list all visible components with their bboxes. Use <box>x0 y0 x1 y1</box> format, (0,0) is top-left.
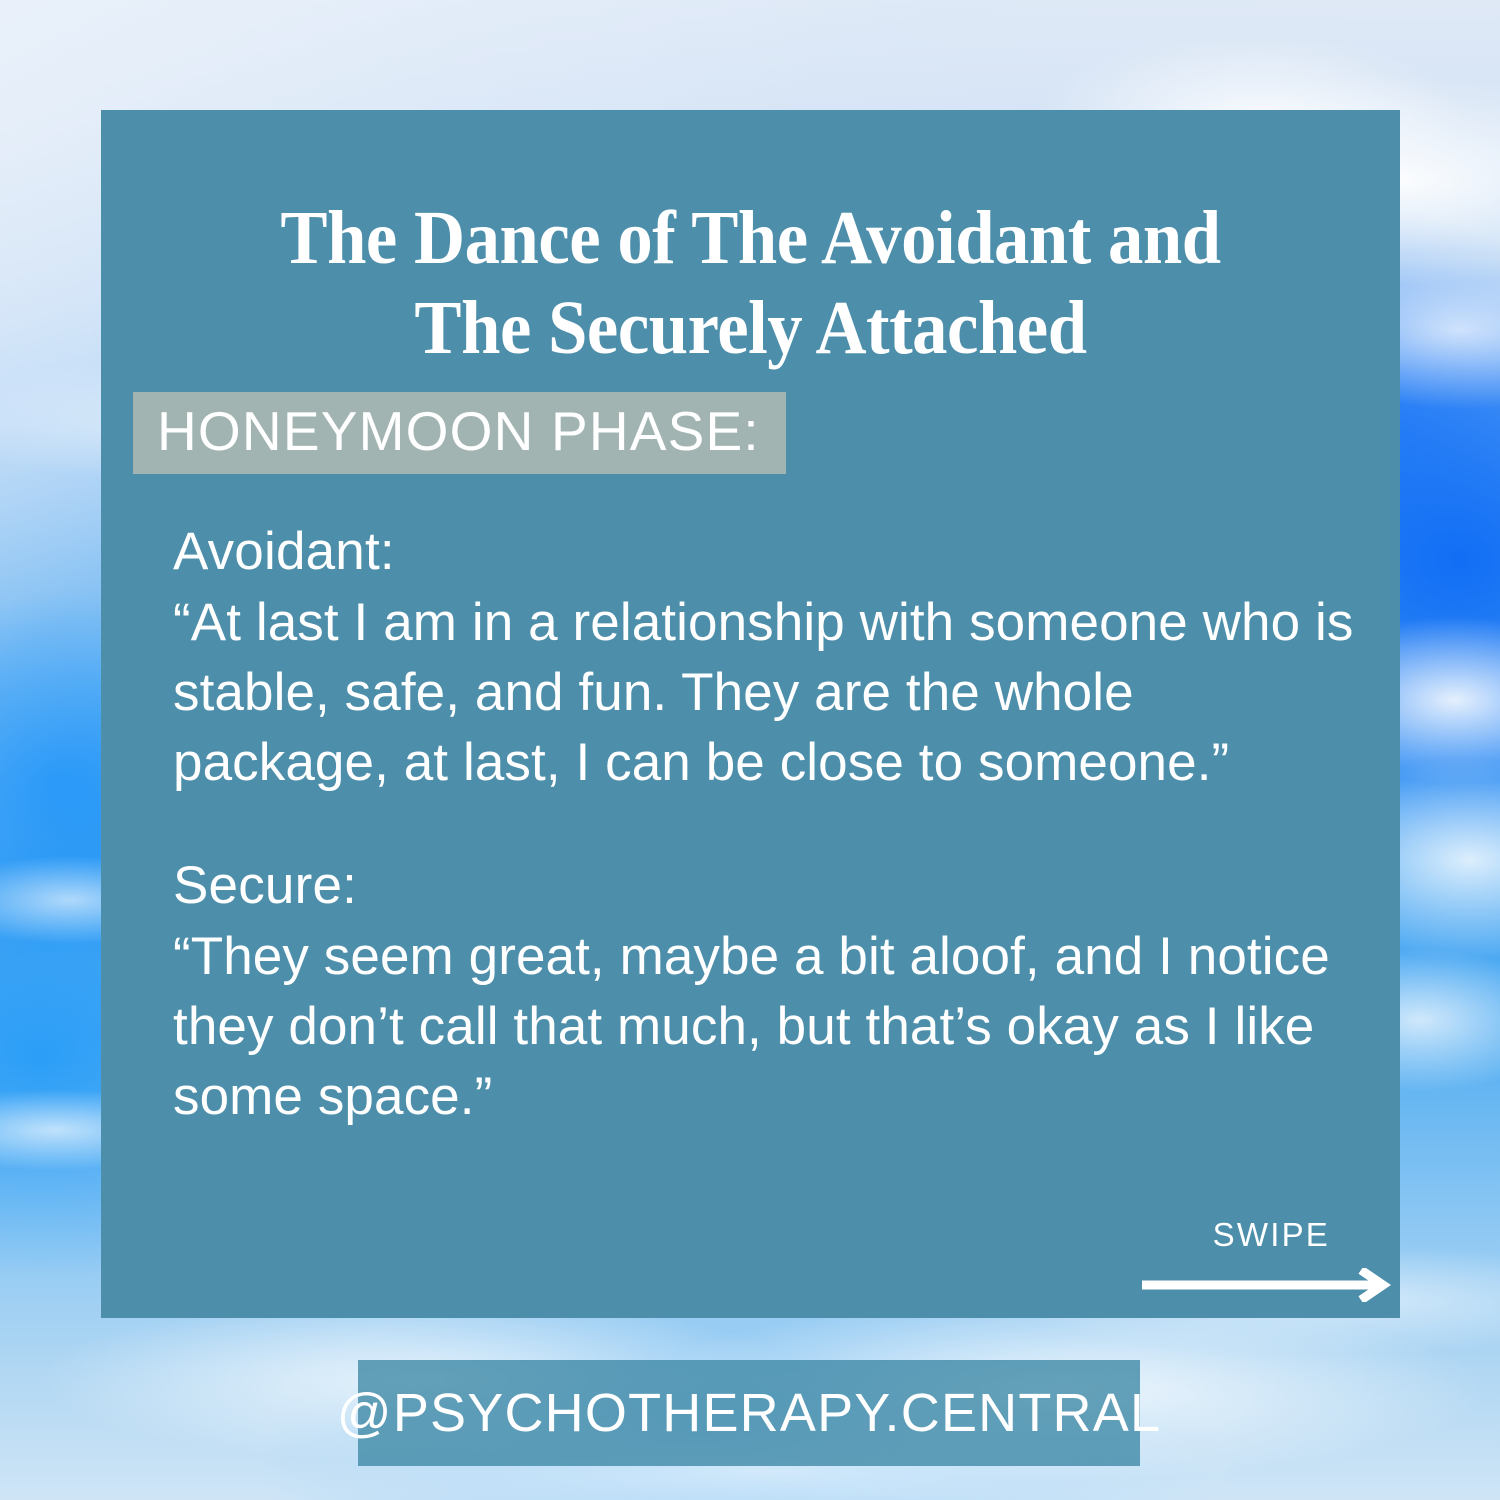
swipe-label: SWIPE <box>1012 1216 1392 1254</box>
page-title: The Dance of The Avoidant and The Secure… <box>146 193 1354 373</box>
swipe-affordance[interactable]: SWIPE <box>1012 1216 1392 1302</box>
quote-secure: “They seem great, maybe a bit aloof, and… <box>173 922 1358 1132</box>
speaker-label-avoidant: Avoidant: <box>173 520 1358 584</box>
arrow-right-icon <box>1142 1268 1392 1302</box>
quote-avoidant: “At last I am in a relationship with som… <box>173 588 1358 798</box>
account-handle-bar[interactable]: @PSYCHOTHERAPY.CENTRAL <box>358 1360 1140 1466</box>
body-copy: Avoidant: “At last I am in a relationshi… <box>173 520 1358 1132</box>
phase-label: HONEYMOON PHASE: <box>157 403 760 459</box>
slide-canvas: The Dance of The Avoidant and The Secure… <box>0 0 1500 1500</box>
account-handle: @PSYCHOTHERAPY.CENTRAL <box>337 1382 1161 1444</box>
phase-label-wrapper: HONEYMOON PHASE: <box>133 392 786 474</box>
speaker-label-secure: Secure: <box>173 854 1358 918</box>
phase-highlight-box: HONEYMOON PHASE: <box>133 392 786 474</box>
section-spacer <box>173 798 1358 854</box>
content-panel: The Dance of The Avoidant and The Secure… <box>101 110 1400 1318</box>
